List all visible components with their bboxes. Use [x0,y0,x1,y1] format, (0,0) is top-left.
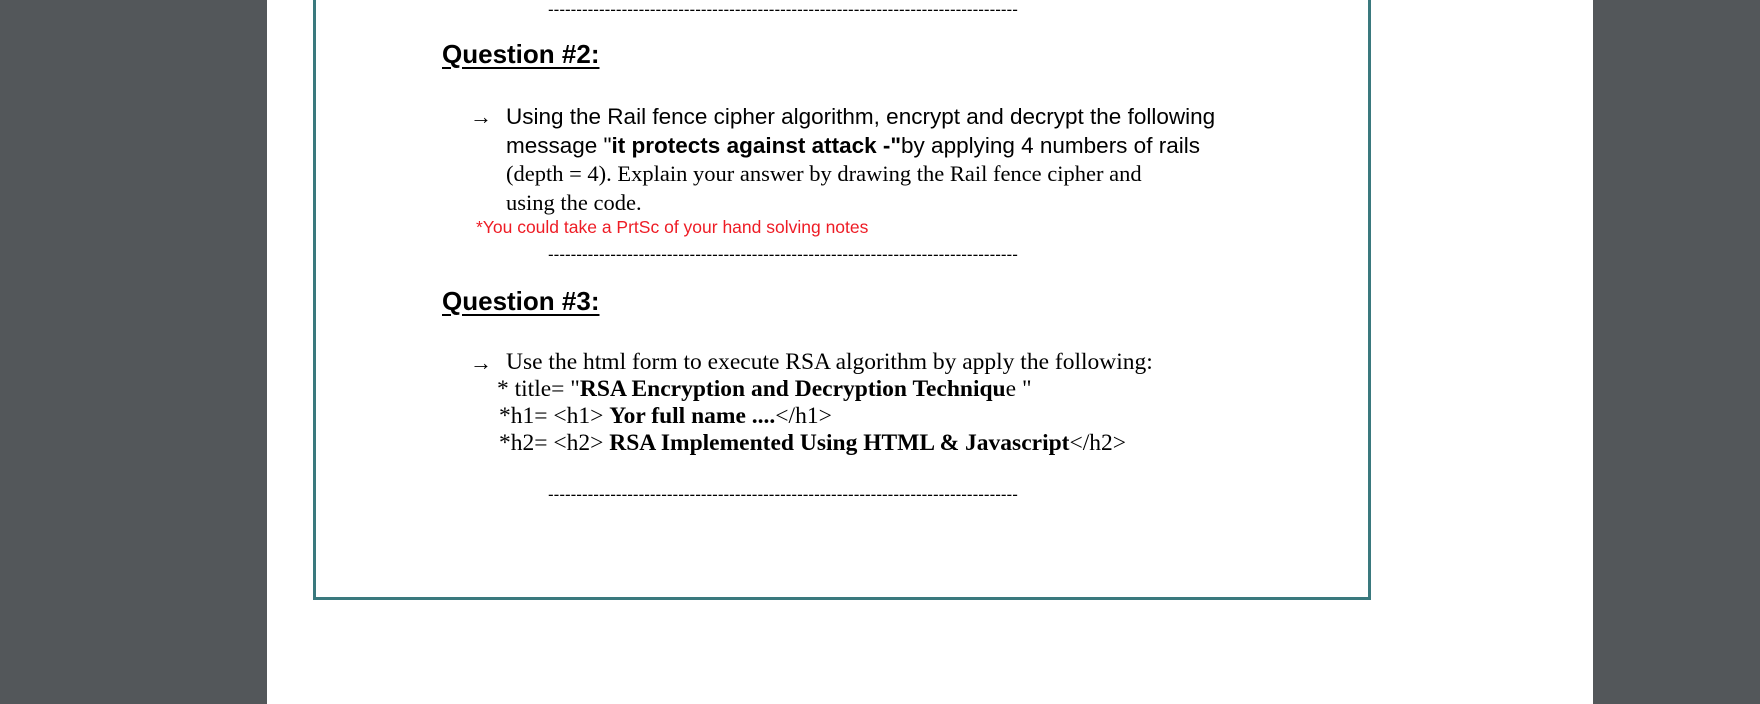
arrow-bullet-icon: → [470,349,492,376]
question-3-heading: Question #3: [442,286,599,317]
title-value: RSA Encryption and Decryption Techniqu [580,376,1006,402]
h1-value: Yor full name .... [609,403,775,429]
question-2-line-1-text: Using the Rail fence cipher algorithm, e… [506,104,1215,129]
question-2-line-2-prefix: message " [506,133,612,158]
question-3-body: →Use the html form to execute RSA algori… [506,349,1226,457]
question-2-heading: Question #2: [442,39,599,70]
title-prefix: * title= " [497,376,580,402]
document-page: ----------------------------------------… [267,0,1593,704]
separator-rule-top: ----------------------------------------… [548,1,1140,18]
h2-suffix: </h2> [1070,430,1127,456]
separator-rule-bottom: ----------------------------------------… [548,486,1140,503]
question-2-line-4: using the code. [506,189,1216,218]
h1-suffix: </h1> [775,403,832,429]
question-3-title-spec: * title= "RSA Encryption and Decryption … [497,376,1226,403]
slide-frame: ----------------------------------------… [313,0,1371,600]
question-2-cipher-message: it protects against attack -" [612,133,902,158]
separator-rule-middle: ----------------------------------------… [548,246,1140,263]
question-2-line-3: (depth = 4). Explain your answer by draw… [506,160,1216,189]
slide-content: ----------------------------------------… [316,0,1368,597]
question-2-line-2-suffix: by applying 4 numbers of rails [901,133,1200,158]
question-3-h2-spec: *h2= <h2> RSA Implemented Using HTML & J… [499,430,1226,457]
question-2-body: →Using the Rail fence cipher algorithm, … [506,103,1216,217]
question-3-line-1-text: Use the html form to execute RSA algorit… [506,349,1153,375]
h1-prefix: *h1= <h1> [499,403,609,429]
question-2-line-1: →Using the Rail fence cipher algorithm, … [506,103,1216,132]
question-3-line-1: →Use the html form to execute RSA algori… [506,349,1226,376]
title-suffix: e " [1006,376,1032,402]
question-2-line-2: message "it protects against attack -"by… [506,132,1216,161]
question-3-h1-spec: *h1= <h1> Yor full name ....</h1> [499,403,1226,430]
h2-prefix: *h2= <h2> [499,430,609,456]
screenshot-viewport: ----------------------------------------… [0,0,1760,704]
arrow-bullet-icon: → [470,103,492,132]
h2-value: RSA Implemented Using HTML & Javascript [609,430,1069,456]
prtsc-note: *You could take a PrtSc of your hand sol… [476,217,868,238]
